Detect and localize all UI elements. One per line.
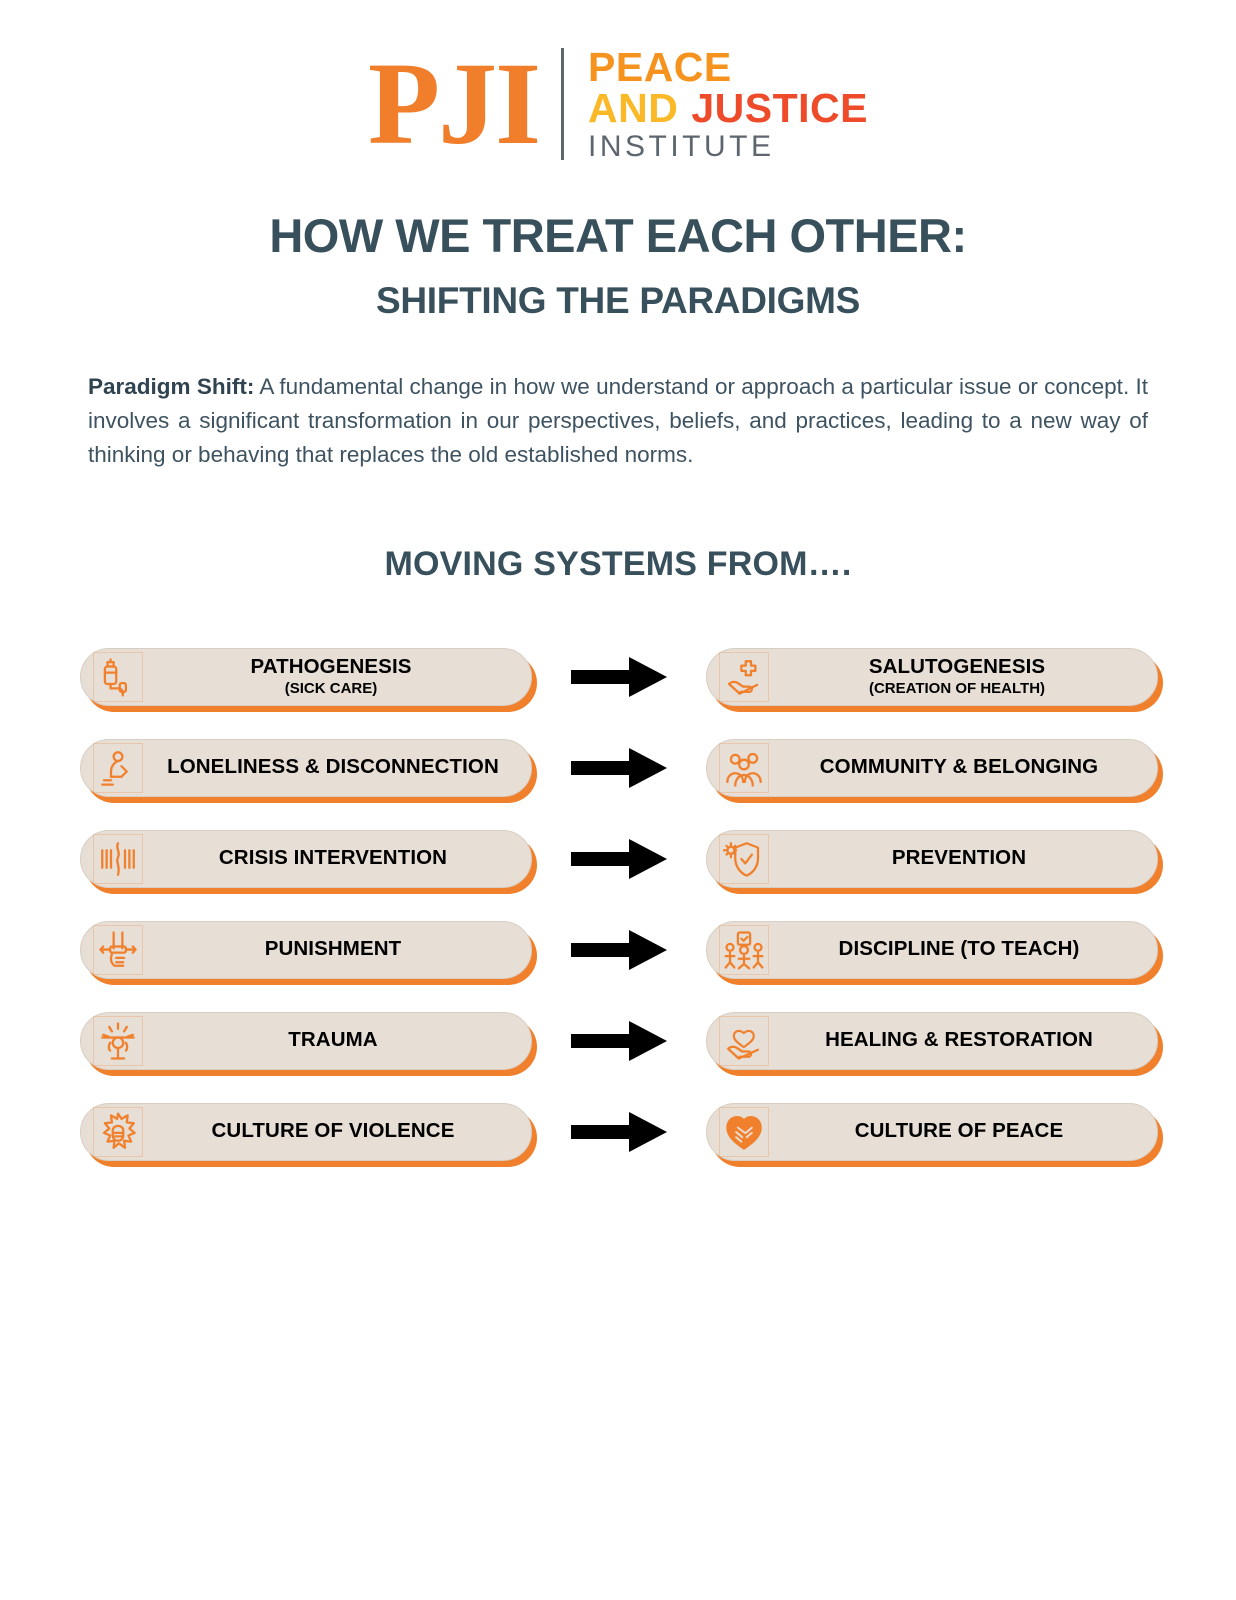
pill-to: HEALING & RESTORATION <box>706 1012 1158 1070</box>
pill-to: PREVENTION <box>706 830 1158 888</box>
paradigm-row: PATHOGENESIS(SICK CARE)SALUTOGENESIS(CRE… <box>80 646 1158 708</box>
hand-holding-medical-cross-icon <box>719 652 769 702</box>
arrow-right-icon <box>532 928 706 972</box>
pill-text-wrap: DISCIPLINE (TO TEACH) <box>769 938 1157 961</box>
pill-to: CULTURE OF PEACE <box>706 1103 1158 1161</box>
pill-text-wrap: PUNISHMENT <box>143 938 531 961</box>
arrow-right-icon <box>532 746 706 790</box>
paradigm-row: PUNISHMENTDISCIPLINE (TO TEACH) <box>80 919 1158 981</box>
handshake-heart-icon <box>719 1107 769 1157</box>
paradigm-row: TRAUMAHEALING & RESTORATION <box>80 1010 1158 1072</box>
pill-label: SALUTOGENESIS <box>771 656 1143 679</box>
pill-label: LONELINESS & DISCONNECTION <box>145 756 521 779</box>
logo-divider <box>561 48 564 160</box>
logo-word-and: AND <box>588 88 678 129</box>
pill-label: CULTURE OF PEACE <box>771 1120 1147 1143</box>
hand-holding-heart-icon <box>719 1016 769 1066</box>
pill-label: PATHOGENESIS <box>145 656 517 679</box>
lonely-person-sitting-icon <box>93 743 143 793</box>
arrow-right-icon <box>532 1110 706 1154</box>
pill-label: PREVENTION <box>771 847 1147 870</box>
page-title: HOW WE TREAT EACH OTHER: <box>0 208 1236 263</box>
pill-text-wrap: CRISIS INTERVENTION <box>143 847 531 870</box>
logo-word-institute: INSTITUTE <box>588 132 775 162</box>
logo-monogram: PJI <box>368 48 561 160</box>
pill-text-wrap: TRAUMA <box>143 1029 531 1052</box>
definition-term: Paradigm Shift: <box>88 374 254 399</box>
paradigm-row: CULTURE OF VIOLENCECULTURE OF PEACE <box>80 1101 1158 1163</box>
pill-from: PATHOGENESIS(SICK CARE) <box>80 648 532 706</box>
definition-paragraph: Paradigm Shift: A fundamental change in … <box>88 370 1148 473</box>
pill-from: CRISIS INTERVENTION <box>80 830 532 888</box>
paradigm-shift-rows: PATHOGENESIS(SICK CARE)SALUTOGENESIS(CRE… <box>0 646 1236 1163</box>
paradigm-row: LONELINESS & DISCONNECTIONCOMMUNITY & BE… <box>80 737 1158 799</box>
pill-from: LONELINESS & DISCONNECTION <box>80 739 532 797</box>
pill-text-wrap: PREVENTION <box>769 847 1157 870</box>
fist-impact-icon <box>93 1107 143 1157</box>
pill-from: CULTURE OF VIOLENCE <box>80 1103 532 1161</box>
arrow-right-icon <box>532 837 706 881</box>
distressed-person-head-icon <box>93 1016 143 1066</box>
logo-lockup: PJI PEACE AND JUSTICE INSTITUTE <box>368 47 868 162</box>
pill-label: TRAUMA <box>145 1029 521 1052</box>
logo-word-justice: JUSTICE <box>691 88 868 129</box>
pill-from: PUNISHMENT <box>80 921 532 979</box>
page-subtitle: SHIFTING THE PARADIGMS <box>0 280 1236 322</box>
pill-label: CULTURE OF VIOLENCE <box>145 1120 521 1143</box>
pill-label: DISCIPLINE (TO TEACH) <box>771 938 1147 961</box>
brand-logo: PJI PEACE AND JUSTICE INSTITUTE <box>0 0 1236 150</box>
shield-checkmark-virus-icon <box>719 834 769 884</box>
logo-line-two: AND JUSTICE <box>588 88 868 129</box>
pill-label: CRISIS INTERVENTION <box>145 847 521 870</box>
pill-to: SALUTOGENESIS(CREATION OF HEALTH) <box>706 648 1158 706</box>
pill-from: TRAUMA <box>80 1012 532 1070</box>
logo-word-peace: PEACE <box>588 47 732 88</box>
pill-label: HEALING & RESTORATION <box>771 1029 1147 1052</box>
shackled-hands-icon <box>93 925 143 975</box>
pill-sublabel: (SICK CARE) <box>145 681 517 698</box>
pill-to: COMMUNITY & BELONGING <box>706 739 1158 797</box>
pill-text-wrap: HEALING & RESTORATION <box>769 1029 1157 1052</box>
pill-to: DISCIPLINE (TO TEACH) <box>706 921 1158 979</box>
pill-text-wrap: PATHOGENESIS(SICK CARE) <box>143 656 531 698</box>
section-heading: MOVING SYSTEMS FROM…. <box>0 545 1236 584</box>
logo-line-three: INSTITUTE <box>588 129 868 162</box>
pill-text-wrap: SALUTOGENESIS(CREATION OF HEALTH) <box>769 656 1157 698</box>
arrow-right-icon <box>532 1019 706 1063</box>
pill-label: PUNISHMENT <box>145 938 521 961</box>
logo-wordmark: PEACE AND JUSTICE INSTITUTE <box>588 47 868 162</box>
people-checklist-icon <box>719 925 769 975</box>
pill-sublabel: (CREATION OF HEALTH) <box>771 681 1143 698</box>
group-of-people-icon <box>719 743 769 793</box>
pill-text-wrap: COMMUNITY & BELONGING <box>769 756 1157 779</box>
pill-text-wrap: CULTURE OF PEACE <box>769 1120 1157 1143</box>
pill-text-wrap: LONELINESS & DISCONNECTION <box>143 756 531 779</box>
arrow-right-icon <box>532 655 706 699</box>
iv-drip-icon <box>93 652 143 702</box>
paradigm-row: CRISIS INTERVENTIONPREVENTION <box>80 828 1158 890</box>
stress-lines-person-icon <box>93 834 143 884</box>
pill-text-wrap: CULTURE OF VIOLENCE <box>143 1120 531 1143</box>
logo-line-one: PEACE <box>588 47 868 88</box>
pill-label: COMMUNITY & BELONGING <box>771 756 1147 779</box>
